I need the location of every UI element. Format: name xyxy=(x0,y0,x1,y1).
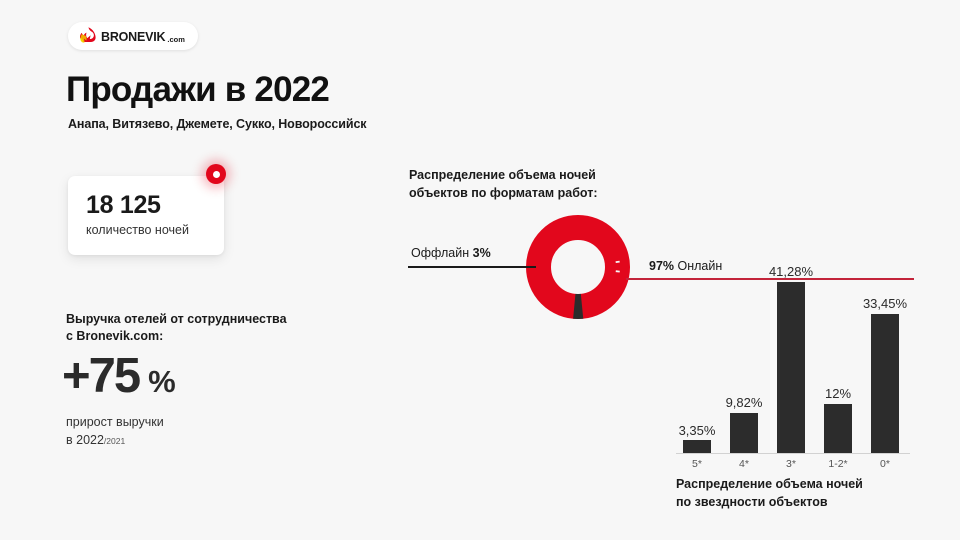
revenue-growth-unit: % xyxy=(148,366,176,397)
bar-tick-2: 3* xyxy=(770,458,812,470)
donut-heading-line2: объектов по форматам работ: xyxy=(409,185,649,203)
bronevik-logo: BRONEVIK .com xyxy=(68,22,198,50)
flame-icon xyxy=(76,25,98,47)
bar-column-1: 9,82% xyxy=(723,270,765,454)
donut-label-offline: Оффлайн 3% xyxy=(411,246,491,260)
offline-leader-line xyxy=(408,266,536,268)
revenue-sublabel: прирост выручки в 2022/2021 xyxy=(66,413,164,449)
bar-value-1: 9,82% xyxy=(726,395,763,410)
nights-label: количество ночей xyxy=(86,223,189,237)
stars-bar-chart: 3,35% 9,82% 41,28% 12% 33,45% xyxy=(676,270,910,454)
bar-rect-3 xyxy=(824,404,852,454)
bar-rect-1 xyxy=(730,413,758,454)
bar-rect-0 xyxy=(683,440,711,454)
offline-name: Оффлайн xyxy=(411,246,469,260)
bar-chart-axis xyxy=(676,453,910,454)
revenue-sublabel-line2: в 2022/2021 xyxy=(66,431,164,449)
revenue-growth-number: +75 xyxy=(62,352,139,401)
bar-caption-line2: по звездности объектов xyxy=(676,494,916,512)
bar-rect-2 xyxy=(777,282,805,454)
bar-tick-1: 4* xyxy=(723,458,765,470)
bar-value-4: 33,45% xyxy=(863,296,907,311)
donut-chart-heading: Распределение объема ночей объектов по ф… xyxy=(409,167,649,202)
offline-percent: 3% xyxy=(473,246,491,260)
logo-domain-suffix: .com xyxy=(167,35,185,44)
bar-tick-0: 5* xyxy=(676,458,718,470)
bar-column-0: 3,35% xyxy=(676,270,718,454)
logo-wordmark: BRONEVIK xyxy=(101,31,165,44)
bar-column-2: 41,28% xyxy=(770,270,812,454)
bar-rect-4 xyxy=(871,314,899,454)
record-dot-icon xyxy=(206,164,226,184)
bar-chart-caption: Распределение объема ночей по звездности… xyxy=(676,476,916,511)
online-percent: 97% xyxy=(649,259,674,273)
bar-value-3: 12% xyxy=(825,386,851,401)
revenue-heading-line1: Выручка отелей от сотрудничества xyxy=(66,311,336,328)
page-title: Продажи в 2022 xyxy=(66,72,329,107)
nights-card: 18 125 количество ночей xyxy=(68,176,224,255)
revenue-year: в 2022 xyxy=(66,433,104,447)
bar-caption-line1: Распределение объема ночей xyxy=(676,476,916,494)
bar-value-2: 41,28% xyxy=(769,264,813,279)
revenue-heading: Выручка отелей от сотрудничества с Brone… xyxy=(66,311,336,345)
donut-heading-line1: Распределение объема ночей xyxy=(409,167,649,185)
nights-value: 18 125 xyxy=(86,191,161,220)
bar-column-4: 33,45% xyxy=(864,270,906,454)
bar-value-0: 3,35% xyxy=(679,423,716,438)
page-subtitle: Анапа, Витязево, Джемете, Сукко, Новорос… xyxy=(68,117,366,131)
revenue-year-compare: /2021 xyxy=(104,436,125,446)
revenue-sublabel-line1: прирост выручки xyxy=(66,413,164,431)
bar-column-3: 12% xyxy=(817,270,859,454)
bar-tick-3: 1-2* xyxy=(817,458,859,470)
infographic-canvas: BRONEVIK .com Продажи в 2022 Анапа, Витя… xyxy=(0,0,960,540)
revenue-heading-line2: с Bronevik.com: xyxy=(66,328,336,345)
bar-tick-4: 0* xyxy=(864,458,906,470)
revenue-growth-figure: +75 % xyxy=(62,352,176,401)
